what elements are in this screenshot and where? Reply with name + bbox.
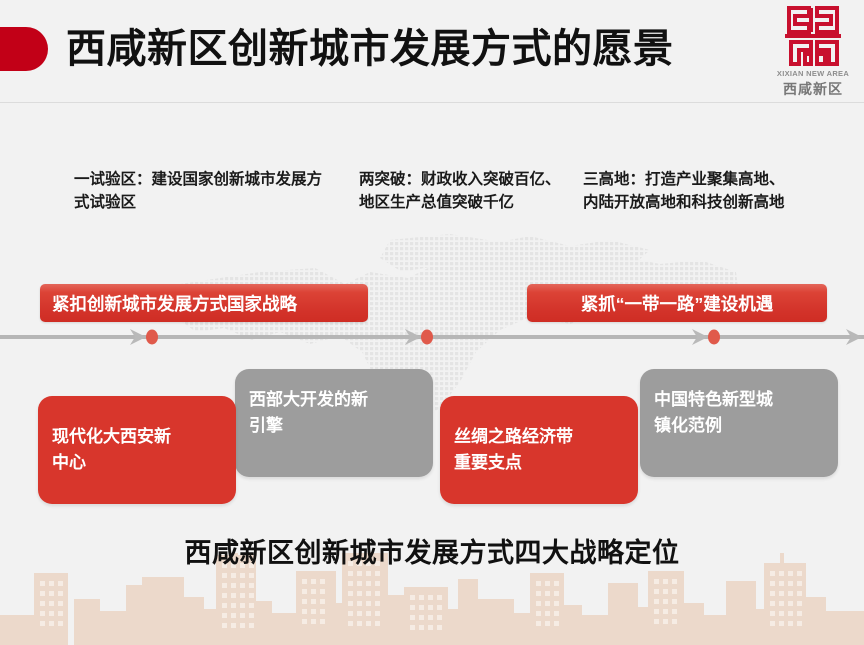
position-box-1-line-1: 现代化大西安新 (52, 424, 171, 450)
position-box-2-line-1: 西部大开发的新 (249, 387, 368, 413)
position-box-4-line-2: 镇化范例 (654, 413, 773, 439)
position-box-3-line-1: 丝绸之路经济带 (454, 424, 573, 450)
position-box-3[interactable]: 丝绸之路经济带 重要支点 (440, 396, 638, 504)
position-box-3-line-2: 重要支点 (454, 450, 573, 476)
position-box-2[interactable]: 西部大开发的新 引擎 (235, 369, 433, 477)
slide-footer-caption: 西咸新区创新城市发展方式四大战略定位 (0, 531, 864, 570)
position-box-2-line-2: 引擎 (249, 413, 368, 439)
position-box-4[interactable]: 中国特色新型城 镇化范例 (640, 369, 838, 477)
slide-canvas: 西咸新区创新城市发展方式的愿景 XIXIAN NEW AREA 西咸新区 一 (0, 0, 864, 645)
position-box-1-line-2: 中心 (52, 450, 171, 476)
position-box-4-line-1: 中国特色新型城 (654, 387, 773, 413)
position-box-1[interactable]: 现代化大西安新 中心 (38, 396, 236, 504)
